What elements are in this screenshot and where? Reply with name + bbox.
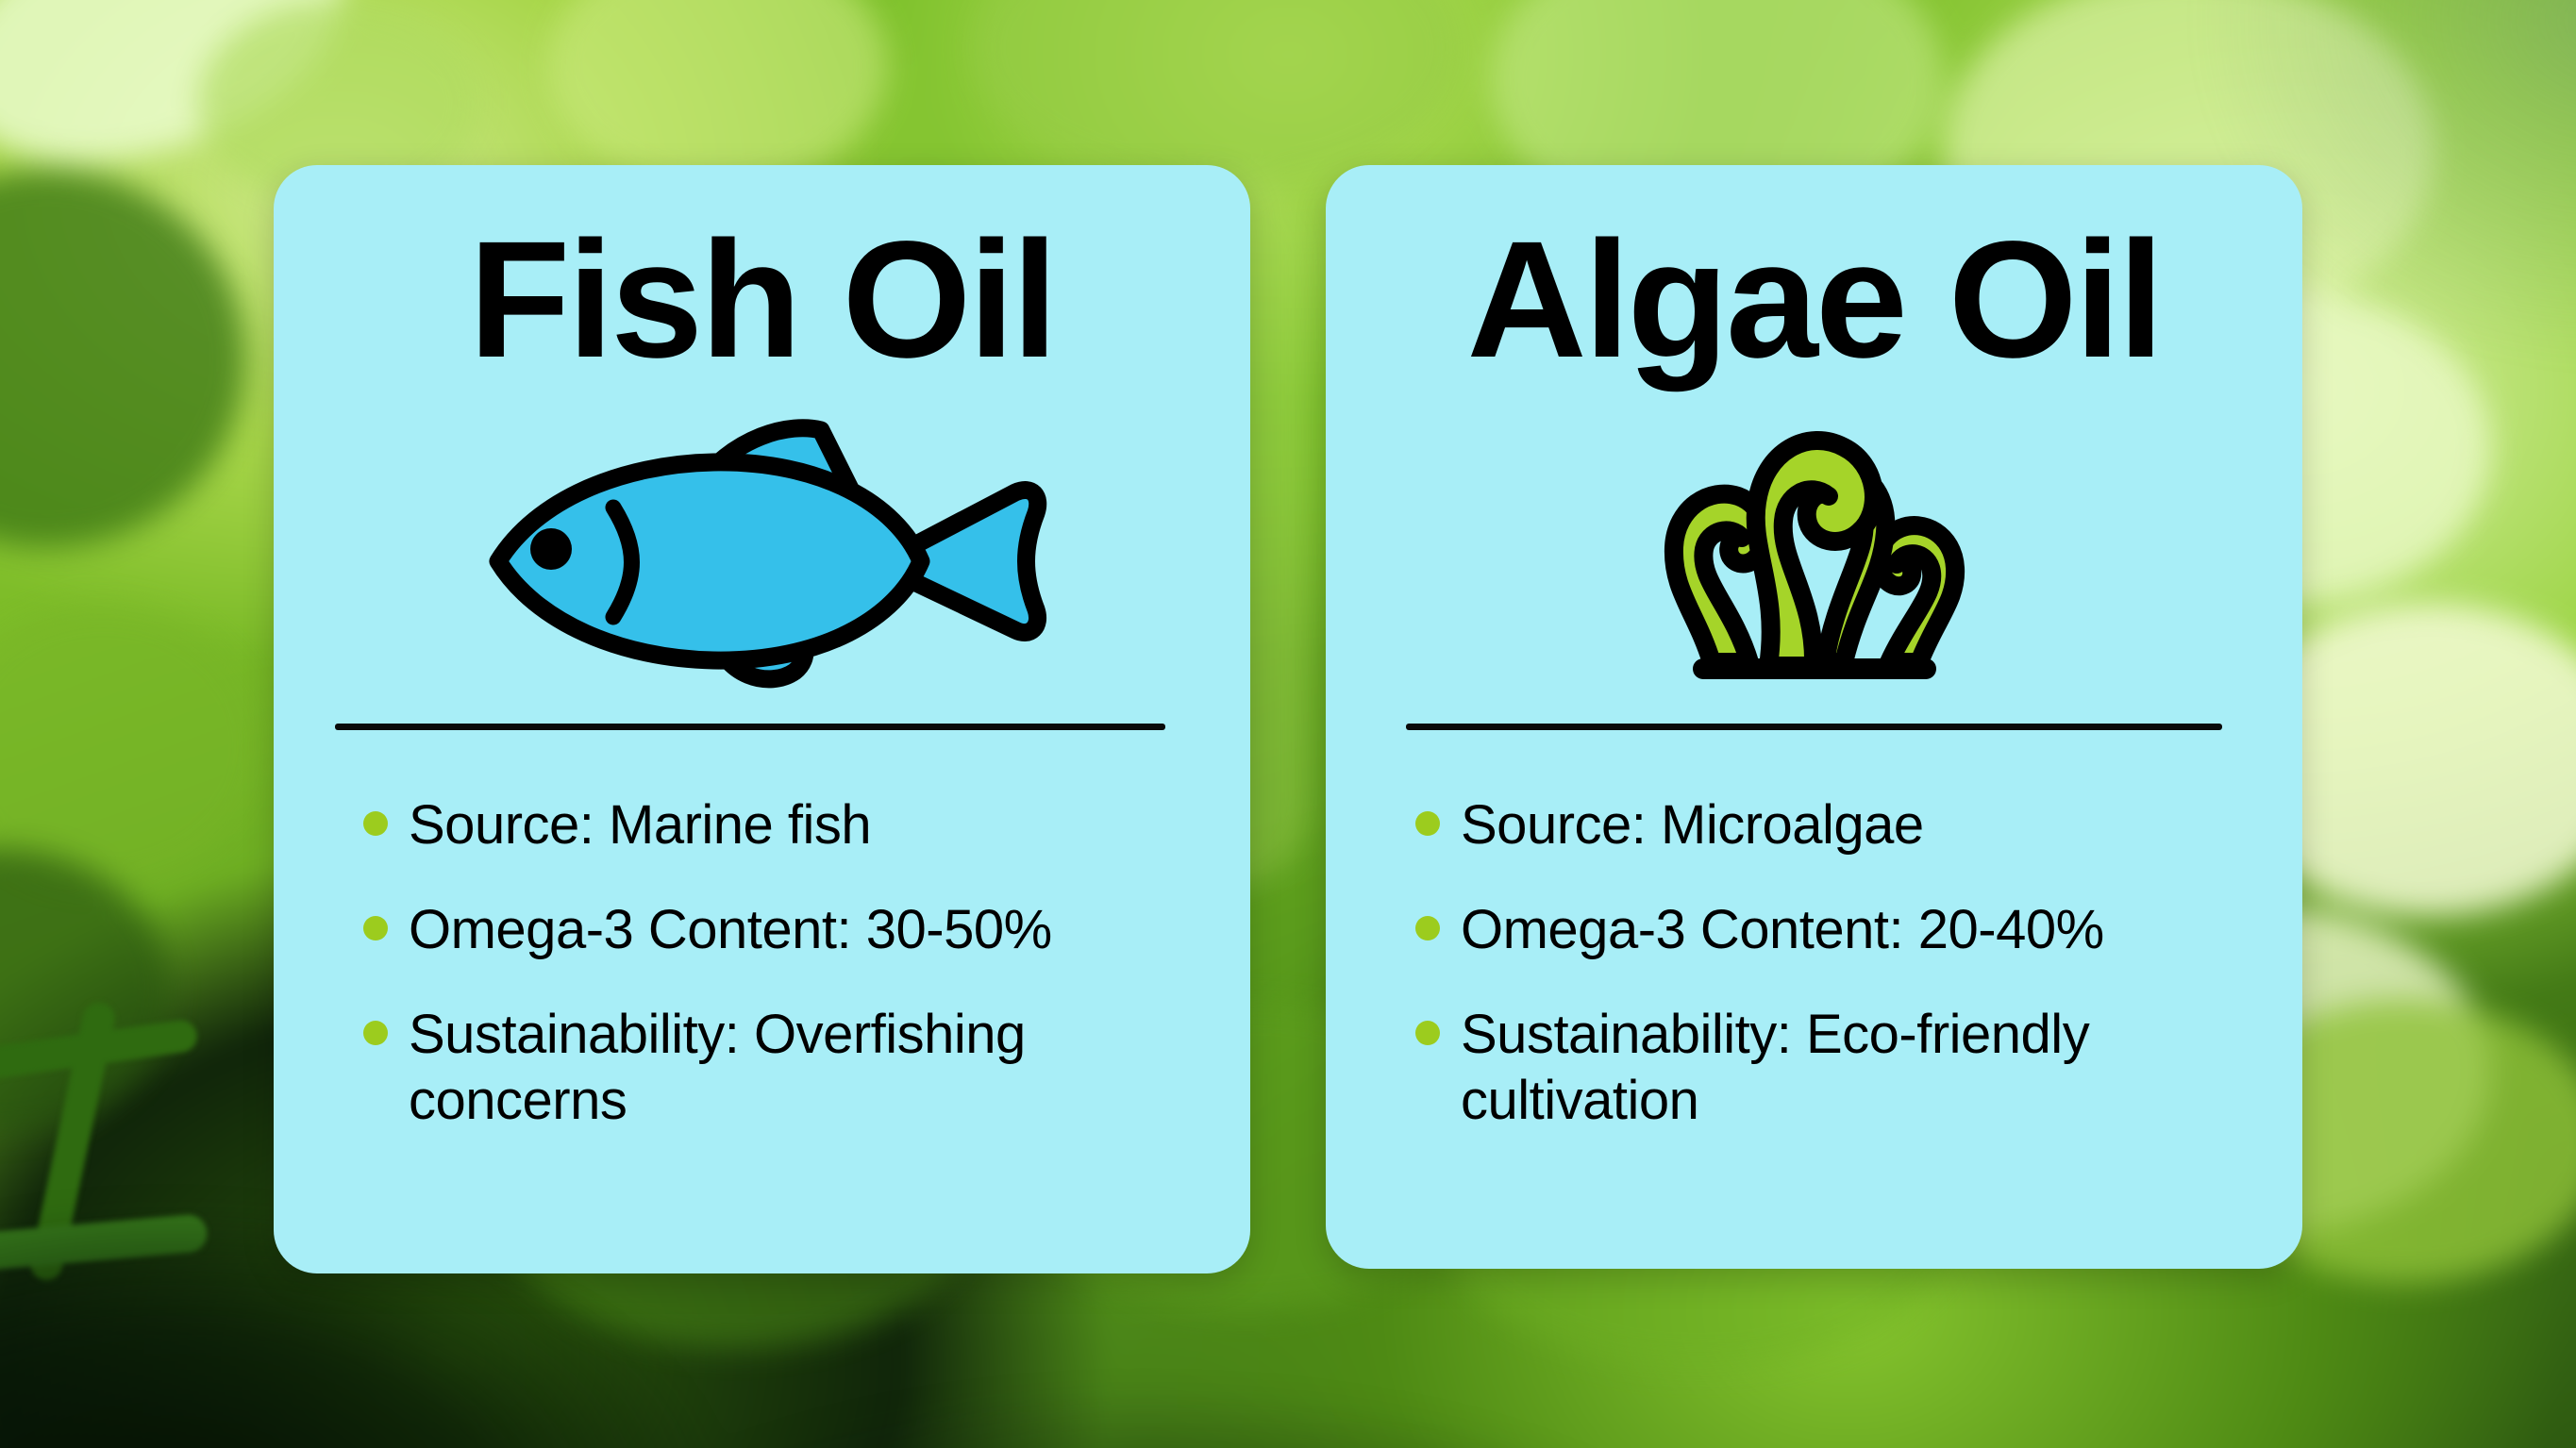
algae-oil-title: Algae Oil	[1326, 217, 2302, 383]
list-item: Sustainability: Overfishing concerns	[363, 1002, 1197, 1136]
bullet-dot-icon	[363, 916, 388, 940]
bullet-dot-icon	[1415, 1021, 1440, 1045]
list-item: Sustainability: Eco-friendly cultivation	[1415, 1002, 2250, 1136]
algae-icon	[1659, 406, 1970, 689]
algae-base-bar	[1693, 658, 1936, 679]
bullet-text: Sustainability: Overfishing concerns	[409, 1002, 1197, 1136]
fish-icon	[470, 406, 1055, 689]
bullet-dot-icon	[1415, 811, 1440, 836]
algae-oil-card[interactable]: Algae Oil Source: Microa	[1326, 165, 2302, 1269]
fish-eye-icon	[530, 528, 572, 570]
bullet-text: Source: Microalgae	[1461, 792, 1924, 859]
infographic-stage: Fish Oil	[0, 0, 2576, 1448]
bullet-text: Omega-3 Content: 20-40%	[1461, 897, 2104, 964]
bullet-text: Sustainability: Eco-friendly cultivation	[1461, 1002, 2250, 1136]
bullet-dot-icon	[363, 811, 388, 836]
bullet-dot-icon	[1415, 916, 1440, 940]
bullet-text: Source: Marine fish	[409, 792, 871, 859]
fish-icon-container	[274, 406, 1250, 689]
list-item: Source: Microalgae	[1415, 792, 2250, 859]
list-item: Source: Marine fish	[363, 792, 1197, 859]
fish-oil-bullet-list: Source: Marine fish Omega-3 Content: 30-…	[363, 792, 1197, 1173]
bullet-dot-icon	[363, 1021, 388, 1045]
fish-oil-card[interactable]: Fish Oil	[274, 165, 1250, 1273]
bullet-text: Omega-3 Content: 30-50%	[409, 897, 1052, 964]
fish-card-divider	[335, 724, 1165, 730]
algae-icon-container	[1326, 406, 2302, 689]
algae-oil-bullet-list: Source: Microalgae Omega-3 Content: 20-4…	[1415, 792, 2250, 1173]
algae-card-divider	[1406, 724, 2222, 730]
fish-oil-title: Fish Oil	[274, 217, 1250, 383]
list-item: Omega-3 Content: 20-40%	[1415, 897, 2250, 964]
list-item: Omega-3 Content: 30-50%	[363, 897, 1197, 964]
